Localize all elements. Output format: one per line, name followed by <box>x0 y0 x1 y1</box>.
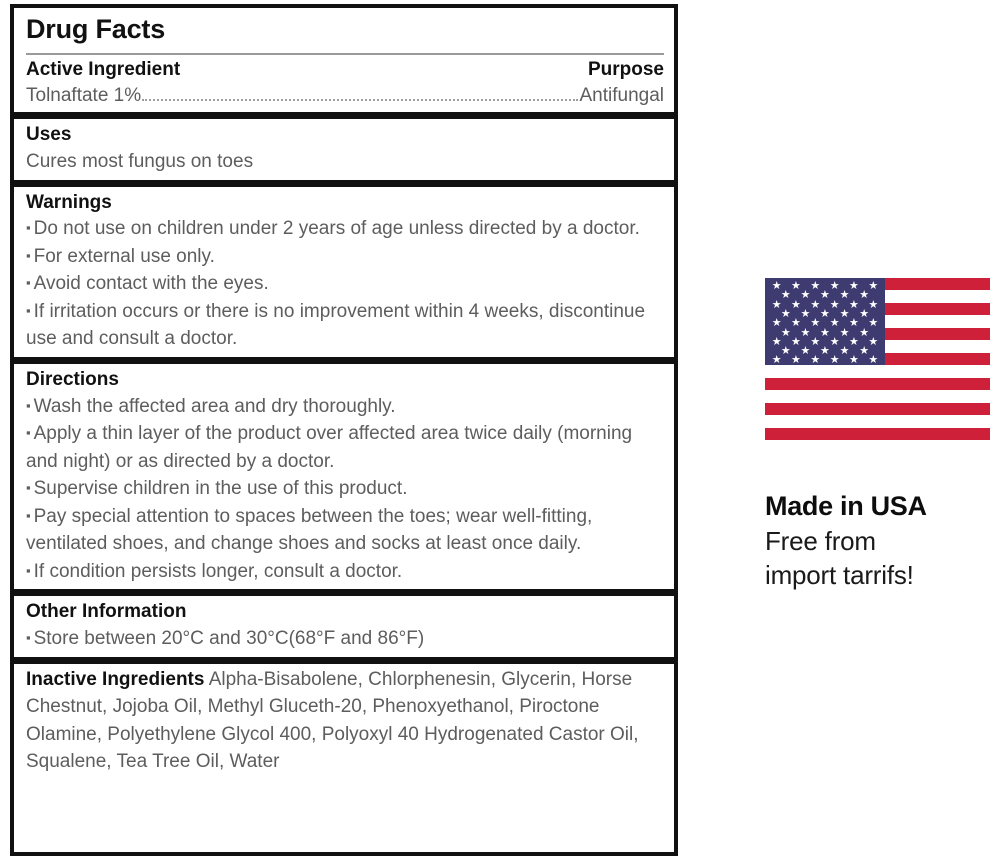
flag-star-icon: ★ <box>810 355 820 365</box>
leader-dots <box>142 99 578 101</box>
active-ingredient-value: Tolnaftate 1% <box>26 83 141 109</box>
flag-stripe <box>765 428 990 440</box>
directions-list: ▪Wash the affected area and dry thorough… <box>26 393 664 586</box>
page-title: Drug Facts <box>26 10 664 47</box>
list-item: ▪If irritation occurs or there is no imp… <box>26 298 664 353</box>
flag-stripe <box>765 365 990 377</box>
flag-star-row: ★★★★★★ <box>765 355 885 365</box>
section-uses: Uses Cures most fungus on toes <box>14 112 674 179</box>
section-other-information: Other Information ▪Store between 20°C an… <box>14 589 674 656</box>
uses-heading: Uses <box>26 121 664 148</box>
list-item: ▪Pay special attention to spaces between… <box>26 503 664 558</box>
other-information-heading: Other Information <box>26 598 664 625</box>
flag-star-icon: ★ <box>868 355 878 365</box>
section-directions: Directions ▪Wash the affected area and d… <box>14 357 674 589</box>
purpose-value: Antifungal <box>579 83 664 109</box>
list-item: ▪Do not use on children under 2 years of… <box>26 215 664 243</box>
flag-canton: ★★★★★★ ★★★★★ ★★★★★★ ★★★★★ ★★★★★★ ★★★★★ ★… <box>765 278 885 365</box>
section-warnings: Warnings ▪Do not use on children under 2… <box>14 180 674 357</box>
flag-star-icon: ★ <box>772 355 782 365</box>
list-item-text: If condition persists longer, consult a … <box>34 561 403 582</box>
active-ingredient-row: Tolnaftate 1% Antifungal <box>26 83 664 109</box>
list-item: ▪Avoid contact with the eyes. <box>26 270 664 298</box>
list-item-text: Do not use on children under 2 years of … <box>34 218 640 239</box>
list-item: ▪For external use only. <box>26 243 664 271</box>
bullet-icon: ▪ <box>26 425 34 440</box>
uses-text: Cures most fungus on toes <box>26 148 664 176</box>
warnings-list: ▪Do not use on children under 2 years of… <box>26 215 664 353</box>
list-item: ▪Supervise children in the use of this p… <box>26 475 664 503</box>
usa-flag-icon: ★★★★★★ ★★★★★ ★★★★★★ ★★★★★ ★★★★★★ ★★★★★ ★… <box>765 278 990 440</box>
list-item-text: For external use only. <box>34 246 215 267</box>
inactive-ingredients-block: Inactive Ingredients Alpha-Bisabolene, C… <box>26 666 664 776</box>
usa-flag-block: ★★★★★★ ★★★★★ ★★★★★★ ★★★★★ ★★★★★★ ★★★★★ ★… <box>765 278 990 440</box>
other-information-list: ▪Store between 20°C and 30°C(68°F and 86… <box>26 625 664 653</box>
bullet-icon: ▪ <box>26 563 34 578</box>
list-item: ▪Apply a thin layer of the product over … <box>26 420 664 475</box>
bullet-icon: ▪ <box>26 303 34 318</box>
bullet-icon: ▪ <box>26 630 34 645</box>
bullet-icon: ▪ <box>26 248 34 263</box>
list-item-text: Pay special attention to spaces between … <box>26 506 592 555</box>
list-item: ▪Store between 20°C and 30°C(68°F and 86… <box>26 625 664 653</box>
usa-caption: Made in USA Free from import tarrifs! <box>765 490 1000 592</box>
bullet-icon: ▪ <box>26 275 34 290</box>
list-item: ▪If condition persists longer, consult a… <box>26 558 664 586</box>
section-inactive-ingredients: Inactive Ingredients Alpha-Bisabolene, C… <box>14 657 674 780</box>
inactive-ingredients-heading: Inactive Ingredients <box>26 669 204 690</box>
list-item-text: Avoid contact with the eyes. <box>34 273 269 294</box>
flag-star-icon: ★ <box>830 355 840 365</box>
active-ingredient-headers: Active Ingredient Purpose <box>26 58 664 83</box>
flag-stripe <box>765 390 990 402</box>
usa-subtitle-line-2: import tarrifs! <box>765 558 1000 592</box>
list-item-text: Wash the affected area and dry thoroughl… <box>34 396 396 417</box>
purpose-header: Purpose <box>588 58 664 83</box>
bullet-icon: ▪ <box>26 220 34 235</box>
flag-stripe <box>765 415 990 427</box>
title-divider <box>26 53 664 55</box>
flag-star-icon: ★ <box>849 355 859 365</box>
bullet-icon: ▪ <box>26 480 34 495</box>
flag-star-icon: ★ <box>791 355 801 365</box>
section-active-ingredient: Drug Facts Active Ingredient Purpose Tol… <box>14 8 674 112</box>
list-item: ▪Wash the affected area and dry thorough… <box>26 393 664 421</box>
list-item-text: If irritation occurs or there is no impr… <box>26 301 645 350</box>
list-item-text: Store between 20°C and 30°C(68°F and 86°… <box>34 628 425 649</box>
list-item-text: Supervise children in the use of this pr… <box>34 478 408 499</box>
warnings-heading: Warnings <box>26 189 664 216</box>
flag-stripe <box>765 378 990 390</box>
list-item-text: Apply a thin layer of the product over a… <box>26 423 632 472</box>
bullet-icon: ▪ <box>26 508 34 523</box>
usa-subtitle-line-1: Free from <box>765 524 1000 558</box>
bullet-icon: ▪ <box>26 398 34 413</box>
directions-heading: Directions <box>26 366 664 393</box>
active-ingredient-header: Active Ingredient <box>26 58 180 83</box>
made-in-usa-title: Made in USA <box>765 490 1000 524</box>
flag-stripe <box>765 403 990 415</box>
drug-facts-label: Drug Facts Active Ingredient Purpose Tol… <box>10 4 678 856</box>
